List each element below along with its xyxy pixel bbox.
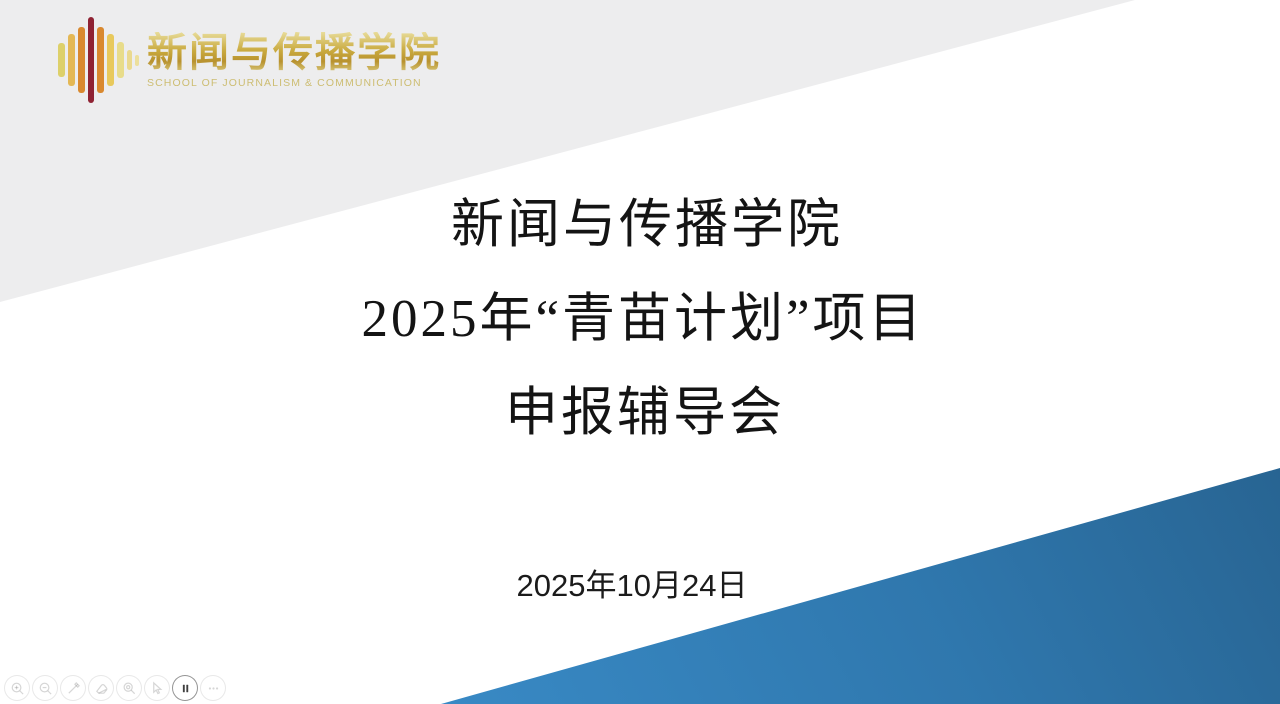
logo-bar [58, 43, 65, 77]
logo-bar [135, 55, 139, 66]
logo-bar [68, 34, 75, 86]
logo-bar [127, 50, 132, 70]
logo-bar [117, 42, 124, 78]
logo-name-chinese: 新闻与传播学院 [147, 32, 441, 74]
zoom-in-icon[interactable] [4, 675, 30, 701]
school-logo: 新闻与传播学院 SCHOOL OF JOURNALISM & COMMUNICA… [58, 14, 441, 106]
logo-soundwave-bars-icon [58, 17, 139, 103]
logo-bar [107, 34, 114, 86]
title-line-1: 新闻与传播学院 [14, 178, 1280, 272]
pen-icon[interactable] [60, 675, 86, 701]
zoom-out-icon[interactable] [32, 675, 58, 701]
pointer-icon[interactable] [144, 675, 170, 701]
logo-text: 新闻与传播学院 SCHOOL OF JOURNALISM & COMMUNICA… [147, 32, 441, 89]
title-line-2: 2025年“青苗计划”项目 [6, 272, 1280, 366]
eraser-icon[interactable] [88, 675, 114, 701]
pause-icon[interactable] [172, 675, 198, 701]
presentation-slide: 新闻与传播学院 SCHOOL OF JOURNALISM & COMMUNICA… [0, 0, 1280, 704]
slide-date: 2025年10月24日 [0, 560, 1272, 605]
more-options-icon[interactable] [200, 675, 226, 701]
logo-bar [78, 27, 85, 93]
player-toolbar[interactable] [4, 674, 226, 702]
slide-title-block: 新闻与传播学院 2025年“青苗计划”项目 申报辅导会 [0, 178, 1280, 460]
logo-bar [97, 27, 104, 93]
logo-name-english: SCHOOL OF JOURNALISM & COMMUNICATION [147, 77, 441, 89]
logo-bar [88, 17, 94, 103]
magnifier-icon[interactable] [116, 675, 142, 701]
title-line-3: 申报辅导会 [10, 366, 1280, 460]
